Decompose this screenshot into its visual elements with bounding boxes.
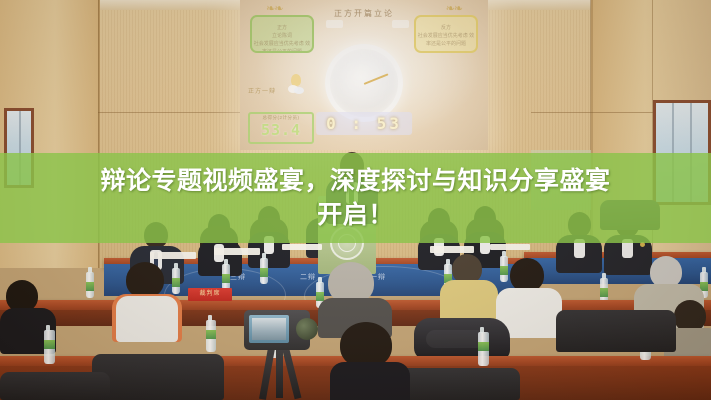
- projection-screen: 正方开篇立论 ❧❧ ❧❧ 正方 立论陈词 社会发展应当优先考虑 效率还是公平的问…: [240, 0, 488, 150]
- camera-lens-icon: [296, 318, 318, 340]
- screen-card-affirmative-heading: 正方: [252, 24, 312, 32]
- conference-chair-2[interactable]: [556, 310, 676, 352]
- screen-card-affirmative: 正方 立论陈词 社会发展应当优先考虑 效率还是公平的问题: [250, 15, 314, 53]
- camera-lcd-screen: [249, 315, 289, 343]
- video-camera[interactable]: [244, 310, 310, 350]
- title-banner: 辩论专题视频盛宴，深度探讨与知识分享盛宴 开启！: [0, 153, 711, 243]
- paper-sheet-2: [214, 248, 260, 255]
- screen-chip-right: [392, 20, 409, 28]
- water-bottle-6: [500, 256, 508, 282]
- conference-chair-1[interactable]: [92, 354, 224, 400]
- paper-sheet-3: [282, 244, 322, 250]
- paper-sheet-4: [430, 246, 474, 253]
- water-bottle-9: [44, 330, 55, 364]
- title-banner-line-1: 辩论专题视频盛宴，深度探讨与知识分享盛宴: [100, 166, 610, 196]
- screen-side-label: 正方一辩: [248, 86, 276, 95]
- screen-card-negative-heading: 反方: [416, 24, 476, 32]
- screen-card-negative-body: 社会发展应当优先考虑 效率还是公平的问题: [416, 32, 476, 48]
- laurel-icon-left: ❧❧: [266, 2, 282, 15]
- panel-seam-left: [98, 112, 258, 113]
- backpack: [414, 318, 510, 360]
- screen-card-affirmative-body: 社会发展应当优先考虑 效率还是公平的问题: [252, 40, 312, 53]
- name-placard: 裁判席: [188, 288, 232, 301]
- water-bottle-1: [86, 272, 94, 298]
- screen-countdown-timer: 0 : 53: [316, 112, 412, 135]
- screen-card-negative: 反方 社会发展应当优先考虑 效率还是公平的问题: [414, 15, 478, 53]
- screen-score-value: 53.4: [261, 121, 301, 139]
- conference-chair-5[interactable]: [0, 372, 110, 400]
- gauge-needle-icon: [364, 73, 389, 85]
- water-bottle-2: [172, 268, 180, 294]
- water-bottle-4: [260, 258, 268, 284]
- paper-sheet-1: [150, 252, 196, 259]
- screenshot-root: 正方开篇立论 ❧❧ ❧❧ 正方 立论陈词 社会发展应当优先考虑 效率还是公平的问…: [0, 0, 711, 400]
- laurel-icon-right: ❧❧: [446, 2, 462, 15]
- lightbulb-icon: [288, 74, 304, 96]
- screen-card-affirmative-sub: 立论陈词: [252, 32, 312, 40]
- paper-sheet-5: [490, 244, 530, 250]
- screen-chip-left: [326, 20, 343, 28]
- title-banner-line-2: 开启！: [317, 200, 394, 230]
- water-bottle-12: [478, 332, 489, 366]
- screen-gauge-dial: [325, 44, 403, 122]
- water-bottle-10: [206, 320, 216, 352]
- water-bottle-3: [222, 264, 230, 290]
- table-label-2: 二辩: [300, 272, 316, 282]
- tripod-leg-3: [276, 348, 283, 398]
- screen-score-box: 总得分(2计分员) 53.4: [248, 112, 314, 144]
